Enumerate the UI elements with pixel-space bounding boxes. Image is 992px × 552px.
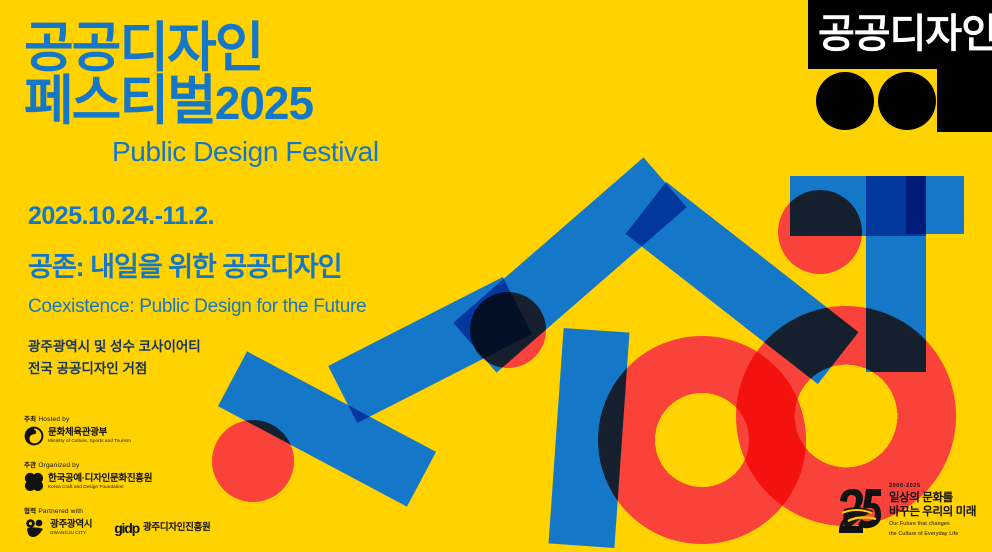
title-english: Public Design Festival (112, 136, 520, 168)
logo-name-ko: 한국공예·디자인문화진흥원 (48, 474, 152, 485)
credit-role-en: Partnered with (38, 508, 83, 515)
title-year: 2025 (215, 77, 313, 129)
logo-name-ko: 광주광역시 (50, 520, 92, 531)
red-circle (778, 190, 862, 274)
anniversary-years: 2000-2025 (889, 483, 976, 489)
badge-circle-left (816, 72, 874, 130)
anniversary-slogan-en-2: the Culture of Everyday Life (889, 531, 976, 538)
theme-english: Coexistence: Public Design for the Futur… (28, 296, 520, 318)
blue-square (906, 176, 964, 234)
anniversary-slogan-ko-1: 일상의 문화를 (889, 491, 976, 505)
credit-group-organizer: 주관Organized by 한국공예·디자인문화진흥원 Korea Craft… (24, 459, 210, 492)
red-circle (212, 420, 294, 502)
four-petal-icon (24, 472, 44, 492)
logo-name-ko: 광주디자인진흥원 (143, 523, 211, 534)
logo-mcst: 문화체육관광부 Ministry of Culture, Sports and … (24, 426, 131, 446)
credit-role-ko: 주관 (24, 462, 36, 469)
credit-role-organizer: 주관Organized by (24, 459, 210, 469)
logo-row-host: 문화체육관광부 Ministry of Culture, Sports and … (24, 426, 210, 446)
title-korean-line1: 공공디자인 (24, 22, 520, 75)
anniversary-slogan-en-1: Our Future that changes (889, 521, 976, 528)
venue-line-2: 전국 공공디자인 거점 (28, 358, 520, 380)
title-korean-line2: 페스티벌2025 (24, 75, 520, 128)
gwangju-emblem-icon (24, 518, 46, 538)
taegeuk-swirl-icon (24, 426, 44, 446)
logo-text-kcdf: 한국공예·디자인문화진흥원 Korea Craft and Design Fou… (48, 474, 152, 491)
credit-group-partner: 협력Partnered with 광주광역시 GWANGJU CITY (24, 505, 210, 538)
festival-dates: 2025.10.24.-11.2. (28, 202, 520, 231)
credit-role-en: Organized by (38, 462, 79, 469)
anniversary-badge: 2000-2025 일상의 문화를 바꾸는 우리의 미래 Our Future … (836, 483, 976, 538)
title-korean-line2-text: 페스티벌 (24, 71, 215, 131)
anniversary-text: 2000-2025 일상의 문화를 바꾸는 우리의 미래 Our Future … (889, 483, 976, 538)
credit-role-en: Hosted by (38, 416, 69, 423)
logo-name-ko: 문화체육관광부 (48, 428, 131, 439)
logo-row-organizer: 한국공예·디자인문화진흥원 Korea Craft and Design Fou… (24, 472, 210, 492)
logo-gwangju-city: 광주광역시 GWANGJU CITY (24, 518, 92, 538)
logo-gidp: gidp 광주디자인진흥원 (114, 521, 210, 535)
gidp-wordmark-icon: gidp (114, 521, 139, 535)
logo-text-mcst: 문화체육관광부 Ministry of Culture, Sports and … (48, 428, 131, 445)
poster-canvas: 공공디자인 공공디자인 페스티벌2025 Public Design Festi… (0, 0, 992, 552)
badge-wordmark: 공공디자인 (818, 6, 992, 62)
anniversary-25-mark (836, 485, 882, 535)
badge-right-block (937, 69, 992, 132)
credit-role-host: 주최Hosted by (24, 413, 210, 423)
logo-name-en: GWANGJU CITY (50, 530, 92, 536)
logo-text-gwangju: 광주광역시 GWANGJU CITY (50, 520, 92, 537)
venue-list: 광주광역시 및 성수 코사이어티 전국 공공디자인 거점 (28, 336, 520, 381)
logo-kcdf: 한국공예·디자인문화진흥원 Korea Craft and Design Fou… (24, 472, 152, 492)
anniversary-slogan-ko-2: 바꾸는 우리의 미래 (889, 505, 976, 519)
logo-row-partner: 광주광역시 GWANGJU CITY gidp 광주디자인진흥원 (24, 518, 210, 538)
credit-role-ko: 주최 (24, 416, 36, 423)
headline-block: 공공디자인 페스티벌2025 Public Design Festival 20… (0, 0, 520, 380)
credit-role-partner: 협력Partnered with (24, 505, 210, 515)
logo-name-en: Ministry of Culture, Sports and Tourism (48, 438, 131, 444)
brand-badge: 공공디자인 (794, 0, 992, 132)
credit-role-ko: 협력 (24, 508, 36, 515)
logo-name-en: Korea Craft and Design Foundation (48, 484, 152, 490)
logo-text-gidp: 광주디자인진흥원 (143, 523, 211, 534)
credit-group-host: 주최Hosted by 문화체육관광부 Ministry of Culture,… (24, 413, 210, 446)
venue-line-1: 광주광역시 및 성수 코사이어티 (28, 336, 520, 358)
theme-korean: 공존: 내일을 위한 공공디자인 (28, 245, 520, 284)
badge-circle-right (878, 72, 936, 130)
credits-block: 주최Hosted by 문화체육관광부 Ministry of Culture,… (24, 413, 210, 538)
